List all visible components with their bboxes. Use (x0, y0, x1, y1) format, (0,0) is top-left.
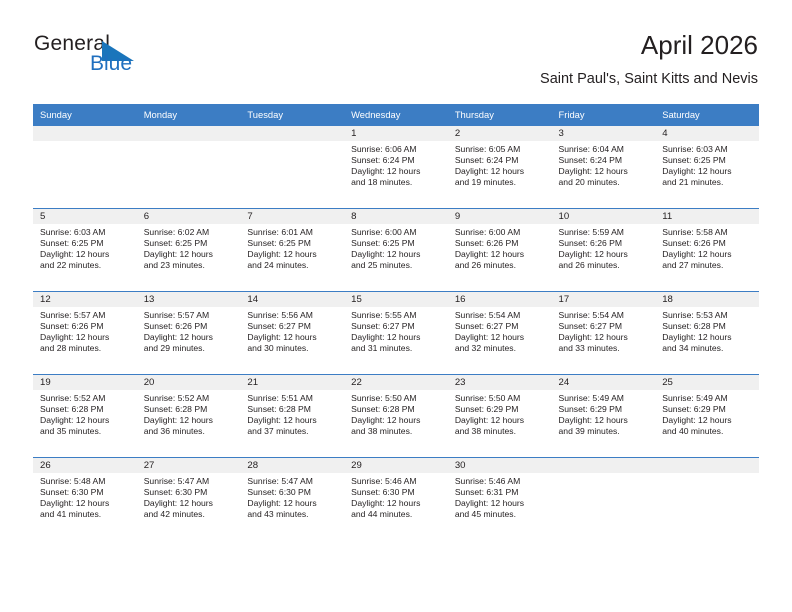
daylight-text-line1: Daylight: 12 hours (559, 166, 651, 177)
day-number: 30 (448, 458, 552, 473)
calendar-day-cell[interactable]: 26Sunrise: 5:48 AMSunset: 6:30 PMDayligh… (33, 458, 137, 541)
day-details: Sunrise: 6:03 AMSunset: 6:25 PMDaylight:… (33, 224, 137, 271)
calendar-day-cell[interactable]: 25Sunrise: 5:49 AMSunset: 6:29 PMDayligh… (655, 375, 759, 458)
day-cell-inner: 11Sunrise: 5:58 AMSunset: 6:26 PMDayligh… (655, 209, 759, 291)
daylight-text-line1: Daylight: 12 hours (144, 415, 236, 426)
calendar-day-cell[interactable]: 13Sunrise: 5:57 AMSunset: 6:26 PMDayligh… (137, 292, 241, 375)
day-details: Sunrise: 5:47 AMSunset: 6:30 PMDaylight:… (240, 473, 344, 520)
sunset-text: Sunset: 6:26 PM (559, 238, 651, 249)
day-number: 13 (137, 292, 241, 307)
sunset-text: Sunset: 6:29 PM (559, 404, 651, 415)
sunrise-text: Sunrise: 5:55 AM (351, 310, 443, 321)
day-cell-inner: 7Sunrise: 6:01 AMSunset: 6:25 PMDaylight… (240, 209, 344, 291)
sunset-text: Sunset: 6:25 PM (40, 238, 132, 249)
day-details: Sunrise: 5:48 AMSunset: 6:30 PMDaylight:… (33, 473, 137, 520)
daylight-text-line1: Daylight: 12 hours (247, 415, 339, 426)
sunset-text: Sunset: 6:27 PM (351, 321, 443, 332)
daylight-text-line1: Daylight: 12 hours (455, 249, 547, 260)
calendar-day-cell[interactable]: 29Sunrise: 5:46 AMSunset: 6:30 PMDayligh… (344, 458, 448, 541)
day-cell-inner: 27Sunrise: 5:47 AMSunset: 6:30 PMDayligh… (137, 458, 241, 540)
day-details: Sunrise: 6:02 AMSunset: 6:25 PMDaylight:… (137, 224, 241, 271)
title-block: April 2026 Saint Paul's, Saint Kitts and… (540, 30, 758, 89)
calendar-week-row: 19Sunrise: 5:52 AMSunset: 6:28 PMDayligh… (33, 375, 759, 458)
day-details: Sunrise: 6:00 AMSunset: 6:26 PMDaylight:… (448, 224, 552, 271)
day-details: Sunrise: 5:50 AMSunset: 6:28 PMDaylight:… (344, 390, 448, 437)
day-cell-inner: 5Sunrise: 6:03 AMSunset: 6:25 PMDaylight… (33, 209, 137, 291)
day-details: Sunrise: 6:05 AMSunset: 6:24 PMDaylight:… (448, 141, 552, 188)
day-details: Sunrise: 5:54 AMSunset: 6:27 PMDaylight:… (448, 307, 552, 354)
day-cell-inner: 9Sunrise: 6:00 AMSunset: 6:26 PMDaylight… (448, 209, 552, 291)
calendar-day-cell[interactable]: 10Sunrise: 5:59 AMSunset: 6:26 PMDayligh… (552, 209, 656, 292)
calendar-day-cell[interactable]: 2Sunrise: 6:05 AMSunset: 6:24 PMDaylight… (448, 126, 552, 209)
sunset-text: Sunset: 6:24 PM (559, 155, 651, 166)
daylight-text-line2: and 35 minutes. (40, 426, 132, 437)
sunrise-text: Sunrise: 6:03 AM (662, 144, 754, 155)
sunrise-text: Sunrise: 6:00 AM (351, 227, 443, 238)
day-number (655, 458, 759, 473)
calendar-day-cell[interactable]: 6Sunrise: 6:02 AMSunset: 6:25 PMDaylight… (137, 209, 241, 292)
sunset-text: Sunset: 6:31 PM (455, 487, 547, 498)
calendar-day-cell[interactable]: 4Sunrise: 6:03 AMSunset: 6:25 PMDaylight… (655, 126, 759, 209)
logo-text-blue: Blue (90, 52, 132, 76)
daylight-text-line1: Daylight: 12 hours (144, 332, 236, 343)
calendar-day-cell[interactable]: 15Sunrise: 5:55 AMSunset: 6:27 PMDayligh… (344, 292, 448, 375)
daylight-text-line2: and 38 minutes. (455, 426, 547, 437)
sunrise-text: Sunrise: 5:50 AM (351, 393, 443, 404)
sunset-text: Sunset: 6:26 PM (40, 321, 132, 332)
page-header: General Blue April 2026 Saint Paul's, Sa… (0, 0, 792, 100)
sunset-text: Sunset: 6:28 PM (662, 321, 754, 332)
weekday-header-friday: Friday (552, 104, 656, 126)
daylight-text-line1: Daylight: 12 hours (662, 166, 754, 177)
day-number: 1 (344, 126, 448, 141)
sunrise-text: Sunrise: 6:05 AM (455, 144, 547, 155)
calendar-day-cell[interactable]: 7Sunrise: 6:01 AMSunset: 6:25 PMDaylight… (240, 209, 344, 292)
sunset-text: Sunset: 6:25 PM (247, 238, 339, 249)
page-subtitle: Saint Paul's, Saint Kitts and Nevis (540, 69, 758, 89)
calendar-week-row: 12Sunrise: 5:57 AMSunset: 6:26 PMDayligh… (33, 292, 759, 375)
day-number: 4 (655, 126, 759, 141)
sunrise-text: Sunrise: 5:49 AM (662, 393, 754, 404)
calendar-day-cell (137, 126, 241, 209)
day-cell-inner: 3Sunrise: 6:04 AMSunset: 6:24 PMDaylight… (552, 126, 656, 208)
daylight-text-line1: Daylight: 12 hours (247, 249, 339, 260)
day-number: 5 (33, 209, 137, 224)
day-number: 22 (344, 375, 448, 390)
calendar-day-cell[interactable]: 30Sunrise: 5:46 AMSunset: 6:31 PMDayligh… (448, 458, 552, 541)
day-details: Sunrise: 5:51 AMSunset: 6:28 PMDaylight:… (240, 390, 344, 437)
day-number: 6 (137, 209, 241, 224)
day-cell-inner: 28Sunrise: 5:47 AMSunset: 6:30 PMDayligh… (240, 458, 344, 540)
sunset-text: Sunset: 6:27 PM (559, 321, 651, 332)
calendar-day-cell[interactable]: 17Sunrise: 5:54 AMSunset: 6:27 PMDayligh… (552, 292, 656, 375)
sunrise-text: Sunrise: 5:50 AM (455, 393, 547, 404)
day-number: 29 (344, 458, 448, 473)
daylight-text-line2: and 28 minutes. (40, 343, 132, 354)
daylight-text-line1: Daylight: 12 hours (40, 332, 132, 343)
sunrise-text: Sunrise: 5:49 AM (559, 393, 651, 404)
day-cell-inner: 10Sunrise: 5:59 AMSunset: 6:26 PMDayligh… (552, 209, 656, 291)
sunrise-text: Sunrise: 5:52 AM (144, 393, 236, 404)
day-number: 28 (240, 458, 344, 473)
day-number: 12 (33, 292, 137, 307)
daylight-text-line1: Daylight: 12 hours (40, 249, 132, 260)
day-number (552, 458, 656, 473)
day-cell-inner: 21Sunrise: 5:51 AMSunset: 6:28 PMDayligh… (240, 375, 344, 457)
sunset-text: Sunset: 6:29 PM (455, 404, 547, 415)
day-number: 17 (552, 292, 656, 307)
sunrise-text: Sunrise: 5:47 AM (144, 476, 236, 487)
sunset-text: Sunset: 6:27 PM (247, 321, 339, 332)
daylight-text-line1: Daylight: 12 hours (559, 415, 651, 426)
day-number: 9 (448, 209, 552, 224)
daylight-text-line1: Daylight: 12 hours (351, 332, 443, 343)
sunset-text: Sunset: 6:26 PM (144, 321, 236, 332)
daylight-text-line2: and 18 minutes. (351, 177, 443, 188)
daylight-text-line2: and 34 minutes. (662, 343, 754, 354)
calendar-day-cell[interactable]: 8Sunrise: 6:00 AMSunset: 6:25 PMDaylight… (344, 209, 448, 292)
daylight-text-line1: Daylight: 12 hours (247, 498, 339, 509)
day-number: 25 (655, 375, 759, 390)
day-cell-inner (552, 458, 656, 540)
calendar-day-cell[interactable]: 3Sunrise: 6:04 AMSunset: 6:24 PMDaylight… (552, 126, 656, 209)
daylight-text-line2: and 26 minutes. (455, 260, 547, 271)
daylight-text-line2: and 27 minutes. (662, 260, 754, 271)
daylight-text-line1: Daylight: 12 hours (40, 415, 132, 426)
day-cell-inner (33, 126, 137, 208)
day-cell-inner: 26Sunrise: 5:48 AMSunset: 6:30 PMDayligh… (33, 458, 137, 540)
daylight-text-line1: Daylight: 12 hours (662, 332, 754, 343)
day-cell-inner (240, 126, 344, 208)
daylight-text-line1: Daylight: 12 hours (455, 332, 547, 343)
daylight-text-line2: and 33 minutes. (559, 343, 651, 354)
daylight-text-line2: and 21 minutes. (662, 177, 754, 188)
calendar-day-cell[interactable]: 21Sunrise: 5:51 AMSunset: 6:28 PMDayligh… (240, 375, 344, 458)
calendar-day-cell[interactable]: 16Sunrise: 5:54 AMSunset: 6:27 PMDayligh… (448, 292, 552, 375)
day-details: Sunrise: 5:52 AMSunset: 6:28 PMDaylight:… (137, 390, 241, 437)
daylight-text-line2: and 22 minutes. (40, 260, 132, 271)
calendar-day-cell[interactable]: 22Sunrise: 5:50 AMSunset: 6:28 PMDayligh… (344, 375, 448, 458)
day-details: Sunrise: 5:49 AMSunset: 6:29 PMDaylight:… (552, 390, 656, 437)
day-number: 14 (240, 292, 344, 307)
general-blue-logo: General Blue (34, 32, 164, 80)
day-number: 15 (344, 292, 448, 307)
daylight-text-line2: and 42 minutes. (144, 509, 236, 520)
day-cell-inner: 13Sunrise: 5:57 AMSunset: 6:26 PMDayligh… (137, 292, 241, 374)
daylight-text-line2: and 39 minutes. (559, 426, 651, 437)
sunrise-text: Sunrise: 5:57 AM (144, 310, 236, 321)
day-details: Sunrise: 6:04 AMSunset: 6:24 PMDaylight:… (552, 141, 656, 188)
day-details: Sunrise: 5:52 AMSunset: 6:28 PMDaylight:… (33, 390, 137, 437)
day-cell-inner: 12Sunrise: 5:57 AMSunset: 6:26 PMDayligh… (33, 292, 137, 374)
weekday-header-tuesday: Tuesday (240, 104, 344, 126)
daylight-text-line2: and 43 minutes. (247, 509, 339, 520)
weekday-header-wednesday: Wednesday (344, 104, 448, 126)
daylight-text-line1: Daylight: 12 hours (40, 498, 132, 509)
daylight-text-line1: Daylight: 12 hours (144, 498, 236, 509)
daylight-text-line1: Daylight: 12 hours (247, 332, 339, 343)
day-number (240, 126, 344, 141)
daylight-text-line2: and 23 minutes. (144, 260, 236, 271)
sunset-text: Sunset: 6:28 PM (144, 404, 236, 415)
weekday-header-thursday: Thursday (448, 104, 552, 126)
calendar-day-cell[interactable]: 1Sunrise: 6:06 AMSunset: 6:24 PMDaylight… (344, 126, 448, 209)
day-cell-inner: 1Sunrise: 6:06 AMSunset: 6:24 PMDaylight… (344, 126, 448, 208)
calendar-day-cell[interactable]: 9Sunrise: 6:00 AMSunset: 6:26 PMDaylight… (448, 209, 552, 292)
day-details: Sunrise: 5:54 AMSunset: 6:27 PMDaylight:… (552, 307, 656, 354)
calendar-page: General Blue April 2026 Saint Paul's, Sa… (0, 0, 792, 612)
calendar-day-cell[interactable]: 28Sunrise: 5:47 AMSunset: 6:30 PMDayligh… (240, 458, 344, 541)
day-details: Sunrise: 6:01 AMSunset: 6:25 PMDaylight:… (240, 224, 344, 271)
daylight-text-line2: and 25 minutes. (351, 260, 443, 271)
daylight-text-line1: Daylight: 12 hours (351, 498, 443, 509)
sunrise-text: Sunrise: 5:58 AM (662, 227, 754, 238)
sunset-text: Sunset: 6:29 PM (662, 404, 754, 415)
calendar-day-cell[interactable]: 23Sunrise: 5:50 AMSunset: 6:29 PMDayligh… (448, 375, 552, 458)
sunset-text: Sunset: 6:28 PM (247, 404, 339, 415)
sunset-text: Sunset: 6:28 PM (40, 404, 132, 415)
day-cell-inner (655, 458, 759, 540)
sunrise-text: Sunrise: 6:02 AM (144, 227, 236, 238)
day-cell-inner: 2Sunrise: 6:05 AMSunset: 6:24 PMDaylight… (448, 126, 552, 208)
sunset-text: Sunset: 6:25 PM (351, 238, 443, 249)
sunrise-text: Sunrise: 5:54 AM (455, 310, 547, 321)
sunrise-text: Sunrise: 5:47 AM (247, 476, 339, 487)
daylight-text-line2: and 36 minutes. (144, 426, 236, 437)
sunset-text: Sunset: 6:24 PM (455, 155, 547, 166)
calendar-header-row: SundayMondayTuesdayWednesdayThursdayFrid… (33, 104, 759, 126)
sunrise-text: Sunrise: 5:56 AM (247, 310, 339, 321)
day-cell-inner: 25Sunrise: 5:49 AMSunset: 6:29 PMDayligh… (655, 375, 759, 457)
sunrise-text: Sunrise: 5:46 AM (455, 476, 547, 487)
day-cell-inner: 30Sunrise: 5:46 AMSunset: 6:31 PMDayligh… (448, 458, 552, 540)
day-details: Sunrise: 5:49 AMSunset: 6:29 PMDaylight:… (655, 390, 759, 437)
day-number (137, 126, 241, 141)
day-cell-inner: 19Sunrise: 5:52 AMSunset: 6:28 PMDayligh… (33, 375, 137, 457)
day-number: 20 (137, 375, 241, 390)
calendar-week-row: 5Sunrise: 6:03 AMSunset: 6:25 PMDaylight… (33, 209, 759, 292)
day-cell-inner: 14Sunrise: 5:56 AMSunset: 6:27 PMDayligh… (240, 292, 344, 374)
day-details: Sunrise: 5:50 AMSunset: 6:29 PMDaylight:… (448, 390, 552, 437)
day-cell-inner: 20Sunrise: 5:52 AMSunset: 6:28 PMDayligh… (137, 375, 241, 457)
sunrise-text: Sunrise: 6:00 AM (455, 227, 547, 238)
day-number: 10 (552, 209, 656, 224)
daylight-text-line1: Daylight: 12 hours (351, 249, 443, 260)
calendar-day-cell[interactable]: 5Sunrise: 6:03 AMSunset: 6:25 PMDaylight… (33, 209, 137, 292)
day-details: Sunrise: 6:03 AMSunset: 6:25 PMDaylight:… (655, 141, 759, 188)
daylight-text-line1: Daylight: 12 hours (455, 415, 547, 426)
daylight-text-line2: and 29 minutes. (144, 343, 236, 354)
day-number: 3 (552, 126, 656, 141)
daylight-text-line2: and 30 minutes. (247, 343, 339, 354)
calendar-grid: SundayMondayTuesdayWednesdayThursdayFrid… (33, 104, 759, 540)
calendar-day-cell (240, 126, 344, 209)
daylight-text-line2: and 44 minutes. (351, 509, 443, 520)
daylight-text-line1: Daylight: 12 hours (351, 415, 443, 426)
calendar-day-cell[interactable]: 14Sunrise: 5:56 AMSunset: 6:27 PMDayligh… (240, 292, 344, 375)
daylight-text-line2: and 26 minutes. (559, 260, 651, 271)
page-title: April 2026 (540, 30, 758, 60)
day-number: 27 (137, 458, 241, 473)
day-cell-inner: 16Sunrise: 5:54 AMSunset: 6:27 PMDayligh… (448, 292, 552, 374)
daylight-text-line1: Daylight: 12 hours (455, 498, 547, 509)
sunrise-text: Sunrise: 5:48 AM (40, 476, 132, 487)
day-details: Sunrise: 5:57 AMSunset: 6:26 PMDaylight:… (33, 307, 137, 354)
calendar-day-cell[interactable]: 27Sunrise: 5:47 AMSunset: 6:30 PMDayligh… (137, 458, 241, 541)
day-cell-inner: 22Sunrise: 5:50 AMSunset: 6:28 PMDayligh… (344, 375, 448, 457)
sunrise-text: Sunrise: 6:06 AM (351, 144, 443, 155)
day-cell-inner: 18Sunrise: 5:53 AMSunset: 6:28 PMDayligh… (655, 292, 759, 374)
daylight-text-line2: and 32 minutes. (455, 343, 547, 354)
day-number: 24 (552, 375, 656, 390)
weekday-header-monday: Monday (137, 104, 241, 126)
day-cell-inner (137, 126, 241, 208)
calendar-day-cell (33, 126, 137, 209)
sunrise-text: Sunrise: 6:04 AM (559, 144, 651, 155)
sunset-text: Sunset: 6:24 PM (351, 155, 443, 166)
calendar-day-cell[interactable]: 20Sunrise: 5:52 AMSunset: 6:28 PMDayligh… (137, 375, 241, 458)
sunset-text: Sunset: 6:30 PM (247, 487, 339, 498)
sunrise-text: Sunrise: 5:54 AM (559, 310, 651, 321)
daylight-text-line2: and 20 minutes. (559, 177, 651, 188)
day-number (33, 126, 137, 141)
day-cell-inner: 6Sunrise: 6:02 AMSunset: 6:25 PMDaylight… (137, 209, 241, 291)
daylight-text-line1: Daylight: 12 hours (662, 249, 754, 260)
daylight-text-line1: Daylight: 12 hours (662, 415, 754, 426)
sunset-text: Sunset: 6:30 PM (40, 487, 132, 498)
day-number: 19 (33, 375, 137, 390)
calendar-day-cell[interactable]: 24Sunrise: 5:49 AMSunset: 6:29 PMDayligh… (552, 375, 656, 458)
daylight-text-line1: Daylight: 12 hours (455, 166, 547, 177)
day-cell-inner: 29Sunrise: 5:46 AMSunset: 6:30 PMDayligh… (344, 458, 448, 540)
day-details: Sunrise: 5:57 AMSunset: 6:26 PMDaylight:… (137, 307, 241, 354)
daylight-text-line2: and 31 minutes. (351, 343, 443, 354)
day-number: 2 (448, 126, 552, 141)
calendar-day-cell[interactable]: 18Sunrise: 5:53 AMSunset: 6:28 PMDayligh… (655, 292, 759, 375)
daylight-text-line2: and 37 minutes. (247, 426, 339, 437)
day-details: Sunrise: 5:46 AMSunset: 6:31 PMDaylight:… (448, 473, 552, 520)
calendar-day-cell (552, 458, 656, 541)
calendar-week-row: 1Sunrise: 6:06 AMSunset: 6:24 PMDaylight… (33, 126, 759, 209)
day-number: 16 (448, 292, 552, 307)
sunset-text: Sunset: 6:28 PM (351, 404, 443, 415)
sunset-text: Sunset: 6:26 PM (662, 238, 754, 249)
day-cell-inner: 4Sunrise: 6:03 AMSunset: 6:25 PMDaylight… (655, 126, 759, 208)
calendar-week-row: 26Sunrise: 5:48 AMSunset: 6:30 PMDayligh… (33, 458, 759, 541)
day-details: Sunrise: 5:59 AMSunset: 6:26 PMDaylight:… (552, 224, 656, 271)
day-details: Sunrise: 5:46 AMSunset: 6:30 PMDaylight:… (344, 473, 448, 520)
daylight-text-line2: and 40 minutes. (662, 426, 754, 437)
day-number: 8 (344, 209, 448, 224)
sunset-text: Sunset: 6:30 PM (144, 487, 236, 498)
day-details: Sunrise: 6:06 AMSunset: 6:24 PMDaylight:… (344, 141, 448, 188)
day-details: Sunrise: 5:47 AMSunset: 6:30 PMDaylight:… (137, 473, 241, 520)
sunset-text: Sunset: 6:25 PM (662, 155, 754, 166)
calendar-day-cell (655, 458, 759, 541)
weekday-header-saturday: Saturday (655, 104, 759, 126)
sunset-text: Sunset: 6:26 PM (455, 238, 547, 249)
day-details: Sunrise: 5:53 AMSunset: 6:28 PMDaylight:… (655, 307, 759, 354)
sunrise-text: Sunrise: 5:46 AM (351, 476, 443, 487)
day-details: Sunrise: 5:58 AMSunset: 6:26 PMDaylight:… (655, 224, 759, 271)
daylight-text-line1: Daylight: 12 hours (144, 249, 236, 260)
calendar-body: 1Sunrise: 6:06 AMSunset: 6:24 PMDaylight… (33, 126, 759, 541)
daylight-text-line2: and 41 minutes. (40, 509, 132, 520)
sunrise-text: Sunrise: 5:57 AM (40, 310, 132, 321)
day-number: 7 (240, 209, 344, 224)
day-number: 21 (240, 375, 344, 390)
daylight-text-line2: and 24 minutes. (247, 260, 339, 271)
calendar-day-cell[interactable]: 11Sunrise: 5:58 AMSunset: 6:26 PMDayligh… (655, 209, 759, 292)
daylight-text-line1: Daylight: 12 hours (351, 166, 443, 177)
daylight-text-line2: and 45 minutes. (455, 509, 547, 520)
day-cell-inner: 17Sunrise: 5:54 AMSunset: 6:27 PMDayligh… (552, 292, 656, 374)
weekday-header-sunday: Sunday (33, 104, 137, 126)
calendar-day-cell[interactable]: 12Sunrise: 5:57 AMSunset: 6:26 PMDayligh… (33, 292, 137, 375)
daylight-text-line2: and 19 minutes. (455, 177, 547, 188)
sunrise-text: Sunrise: 5:51 AM (247, 393, 339, 404)
day-number: 26 (33, 458, 137, 473)
sunset-text: Sunset: 6:30 PM (351, 487, 443, 498)
sunrise-text: Sunrise: 6:03 AM (40, 227, 132, 238)
day-cell-inner: 15Sunrise: 5:55 AMSunset: 6:27 PMDayligh… (344, 292, 448, 374)
sunset-text: Sunset: 6:25 PM (144, 238, 236, 249)
day-number: 11 (655, 209, 759, 224)
sunrise-text: Sunrise: 6:01 AM (247, 227, 339, 238)
sunrise-text: Sunrise: 5:59 AM (559, 227, 651, 238)
sunset-text: Sunset: 6:27 PM (455, 321, 547, 332)
day-cell-inner: 23Sunrise: 5:50 AMSunset: 6:29 PMDayligh… (448, 375, 552, 457)
daylight-text-line2: and 38 minutes. (351, 426, 443, 437)
day-cell-inner: 8Sunrise: 6:00 AMSunset: 6:25 PMDaylight… (344, 209, 448, 291)
daylight-text-line1: Daylight: 12 hours (559, 249, 651, 260)
day-cell-inner: 24Sunrise: 5:49 AMSunset: 6:29 PMDayligh… (552, 375, 656, 457)
sunrise-text: Sunrise: 5:52 AM (40, 393, 132, 404)
day-number: 23 (448, 375, 552, 390)
day-details: Sunrise: 5:56 AMSunset: 6:27 PMDaylight:… (240, 307, 344, 354)
day-details: Sunrise: 5:55 AMSunset: 6:27 PMDaylight:… (344, 307, 448, 354)
calendar-day-cell[interactable]: 19Sunrise: 5:52 AMSunset: 6:28 PMDayligh… (33, 375, 137, 458)
sunrise-text: Sunrise: 5:53 AM (662, 310, 754, 321)
day-details: Sunrise: 6:00 AMSunset: 6:25 PMDaylight:… (344, 224, 448, 271)
day-number: 18 (655, 292, 759, 307)
daylight-text-line1: Daylight: 12 hours (559, 332, 651, 343)
